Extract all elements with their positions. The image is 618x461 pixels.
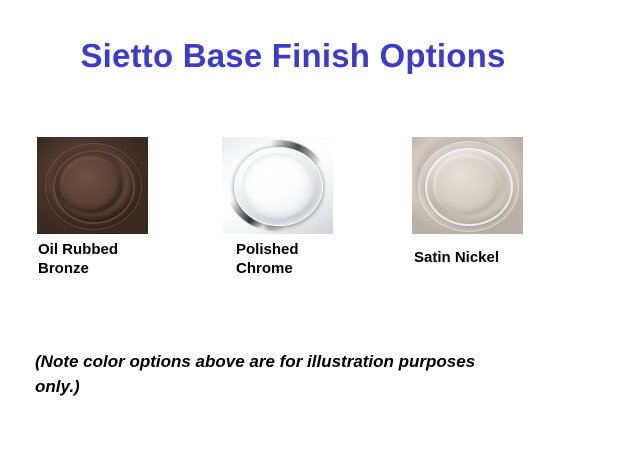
finish-label-oil-rubbed-bronze: Oil Rubbed Bronze [38, 240, 188, 278]
finish-swatch-row [0, 137, 618, 237]
finish-options-page: { "page": { "title": "Sietto Base Finish… [0, 0, 618, 461]
finish-option-polished-chrome[interactable] [222, 137, 333, 234]
nickel-disc-swatch-icon[interactable] [412, 137, 523, 234]
illustration-disclaimer-note: (Note color options above are for illust… [35, 349, 505, 399]
swatch-ring-inner [242, 153, 313, 217]
page-title: Sietto Base Finish Options [0, 36, 586, 76]
finish-option-satin-nickel[interactable] [412, 137, 523, 234]
finish-label-satin-nickel: Satin Nickel [414, 248, 574, 267]
swatch-ring-inner [60, 156, 122, 212]
swatch-ring-inner [433, 154, 500, 214]
bronze-disc-swatch-icon[interactable] [37, 137, 148, 234]
chrome-disc-swatch-icon[interactable] [222, 137, 333, 234]
finish-option-oil-rubbed-bronze[interactable] [37, 137, 148, 234]
finish-label-polished-chrome: Polished Chrome [236, 240, 386, 278]
